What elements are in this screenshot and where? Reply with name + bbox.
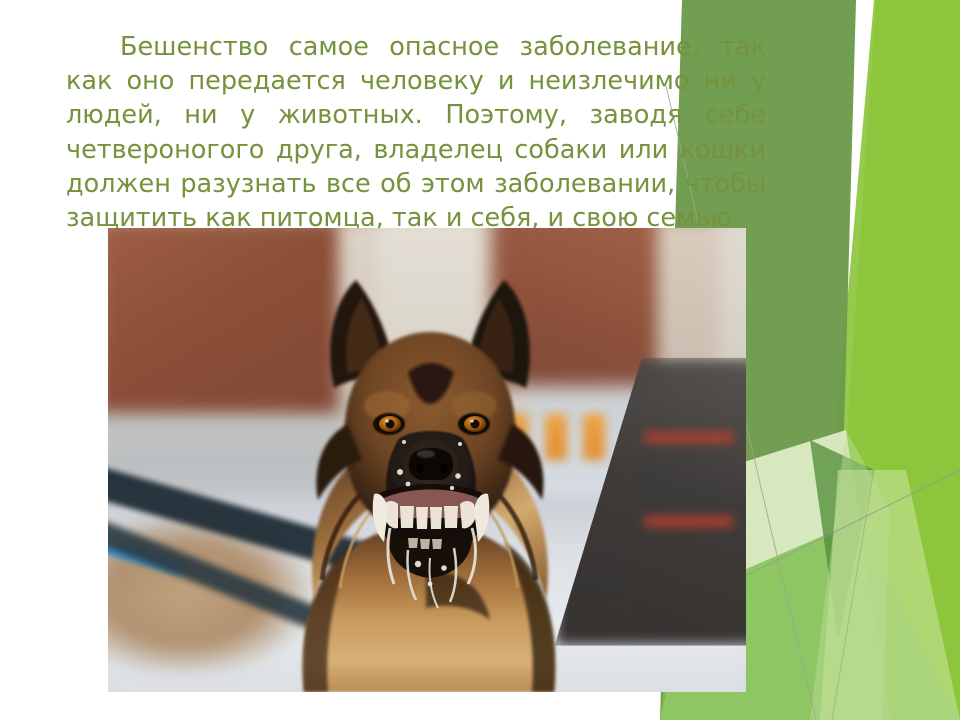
dog-eye-left <box>373 413 405 435</box>
facet-pale-upper <box>810 430 890 720</box>
presentation-slide: Бешенство самое опасное заболевание, так… <box>0 0 960 720</box>
german-shepherd-dog <box>108 228 746 692</box>
facet-pale-band <box>820 470 960 720</box>
dog-photograph: ©www.northhillanimalhospital.com <box>108 228 746 692</box>
slide-body-text: Бешенство самое опасное заболевание, так… <box>66 30 766 235</box>
body-paragraph: Бешенство самое опасное заболевание, так… <box>66 30 766 235</box>
facet-hairline-diagonal-3 <box>832 470 874 720</box>
watermark-container: ©www.northhillanimalhospital.com <box>712 228 746 692</box>
dog-nostril-right <box>440 463 448 473</box>
facet-bright-green <box>810 0 960 720</box>
dog-nose-highlight <box>417 450 435 458</box>
facet-dark-accent <box>810 440 874 640</box>
dog-eye-right <box>458 413 490 435</box>
facet-lime-right <box>828 0 960 720</box>
dog-nostril-left <box>416 463 424 473</box>
dog-illustration-svg <box>108 228 746 692</box>
photo-scene: ©www.northhillanimalhospital.com <box>108 228 746 692</box>
dog-lower-teeth <box>408 538 442 549</box>
